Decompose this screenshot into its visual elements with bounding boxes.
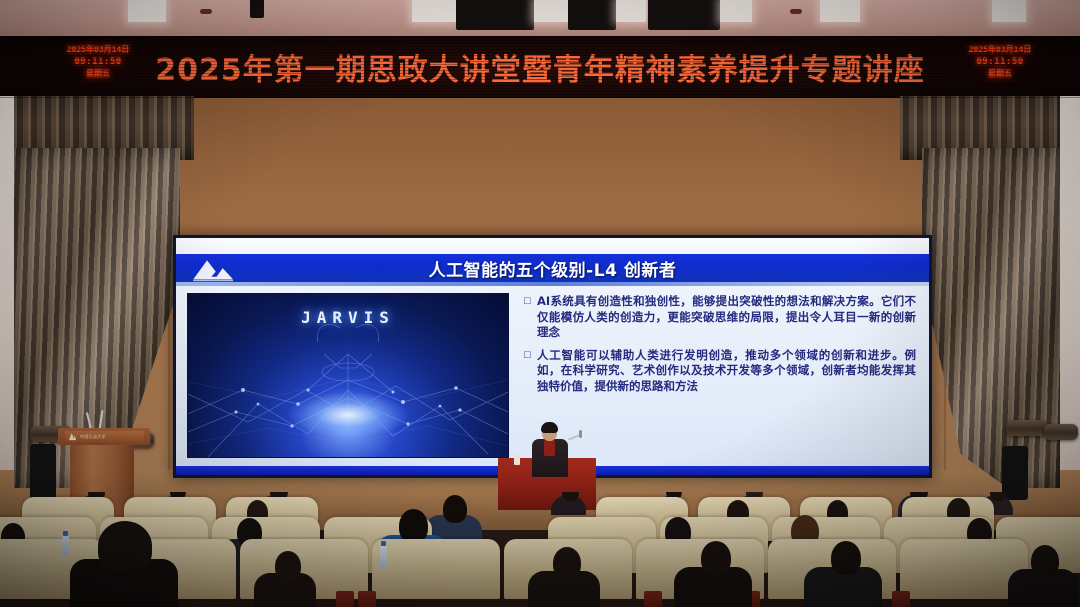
person-head: [275, 551, 301, 581]
water-bottle: [62, 535, 69, 555]
person-head: [98, 521, 152, 571]
podium-nameplate-text: 中国石油大学: [80, 434, 106, 440]
bullet-marker-icon: □: [524, 348, 537, 395]
ceiling-light-panel: [128, 0, 166, 22]
curtain-tieback-right: [1044, 424, 1078, 440]
slide-bullet-item: □ AI系统具有创造性和独创性，能够提出突破性的想法和解决方案。它们不仅能模仿人…: [524, 294, 916, 341]
jarvis-core-glow: [288, 392, 408, 438]
slide-title-bar: 人工智能的五个级别-L4 创新者: [176, 254, 929, 282]
person-head: [399, 509, 428, 543]
person-head: [831, 541, 861, 575]
led-timestamp-left-date: 2025年03月14日: [50, 44, 146, 56]
water-cup: [514, 454, 520, 465]
led-banner: 2025年03月14日 09:11:50 星期五 2025年第一期思政大讲堂暨青…: [0, 36, 1080, 98]
bottle-cap: [63, 531, 68, 536]
lecture-hall-photo: 2025年03月14日 09:11:50 星期五 2025年第一期思政大讲堂暨青…: [0, 0, 1080, 607]
mountain-logo-icon: [68, 432, 77, 441]
ceiling-light-panel: [534, 0, 568, 22]
slide-bullet-item: □ 人工智能可以辅助人类进行发明创造，推动多个领域的创新和进步。例如，在科学研究…: [524, 348, 916, 395]
led-timestamp-right-weekday: 星期五: [952, 68, 1048, 80]
podium-nameplate: 中国石油大学: [65, 431, 144, 442]
led-timestamp-left: 2025年03月14日 09:11:50 星期五: [50, 44, 146, 80]
ceiling-speaker-box: [648, 0, 720, 30]
ceiling-fixture-dot: [790, 9, 802, 14]
speaker-hair: [541, 422, 558, 433]
ceiling-speaker-box: [250, 0, 264, 18]
mountain-logo-icon: [188, 256, 240, 282]
led-timestamp-left-weekday: 星期五: [50, 68, 146, 80]
ceiling-light-panel: [720, 0, 752, 22]
curtain-tieback-right: [1006, 420, 1048, 436]
ceiling-speaker-box: [568, 0, 616, 30]
ceiling-light-panel: [412, 0, 456, 22]
slide-image-jarvis: JARVIS: [187, 293, 509, 458]
audience-area: [0, 492, 1080, 607]
bullet-marker-icon: □: [524, 294, 537, 341]
slide-title: 人工智能的五个级别-L4 创新者: [429, 256, 677, 281]
auditorium-seat: [372, 539, 500, 599]
bullet-text: AI系统具有创造性和独创性，能够提出突破性的想法和解决方案。它们不仅能模仿人类的…: [537, 294, 916, 341]
ceiling-light-panel: [992, 0, 1026, 22]
table-microphone-head: [579, 430, 582, 438]
seat-base: [892, 591, 910, 607]
led-timestamp-right: 2025年03月14日 09:11:50 星期五: [952, 44, 1048, 80]
water-bottle: [380, 545, 387, 569]
ceiling-speaker-box: [456, 0, 534, 30]
seat-base: [336, 591, 354, 607]
ceiling-light-panel: [820, 0, 860, 22]
slide-bullet-list: □ AI系统具有创造性和独创性，能够提出突破性的想法和解决方案。它们不仅能模仿人…: [524, 294, 916, 401]
ceiling: [0, 0, 1080, 38]
jarvis-label: JARVIS: [301, 308, 395, 327]
led-timestamp-right-date: 2025年03月14日: [952, 44, 1048, 56]
person-head: [553, 547, 581, 579]
ceiling-light-panel: [616, 0, 646, 22]
speaker-scarf: [544, 440, 555, 456]
seat-base: [358, 591, 376, 607]
seat-base: [644, 591, 662, 607]
person-head: [1031, 545, 1059, 577]
led-timestamp-left-time: 09:11:50: [50, 56, 146, 68]
person-head: [701, 541, 731, 575]
led-banner-headline: 2025年第一期思政大讲堂暨青年精神素养提升专题讲座: [155, 45, 925, 89]
person-head: [443, 495, 467, 523]
bullet-text: 人工智能可以辅助人类进行发明创造，推动多个领域的创新和进步。例如，在科学研究、艺…: [537, 348, 916, 395]
bottle-cap: [381, 541, 386, 546]
led-timestamp-right-time: 09:11:50: [952, 56, 1048, 68]
ceiling-fixture-dot: [200, 9, 212, 14]
